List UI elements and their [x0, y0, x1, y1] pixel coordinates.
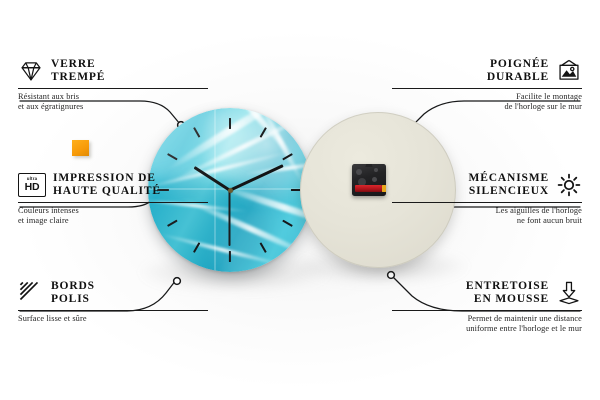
feature-divider	[18, 88, 208, 89]
ultra-hd-badge-large-text: HD	[25, 182, 40, 193]
feature-description: Facilite le montage de l'horloge sur le …	[392, 92, 582, 112]
aa-battery	[355, 185, 382, 193]
feature-title: MÉCANISME SILENCIEUX	[469, 172, 550, 198]
gear-icon	[556, 172, 582, 198]
picture-hanger-icon	[556, 58, 582, 84]
feature-title: ENTRETOISE EN MOUSSE	[466, 280, 549, 306]
diamond-icon	[18, 58, 44, 84]
foam-spacer-pad	[72, 140, 89, 156]
ultra-hd-badge-icon: ultra HD	[18, 173, 46, 197]
feature-title: VERRE TREMPÉ	[51, 58, 105, 84]
clock-center-cap	[228, 188, 233, 193]
feature-title: POIGNÉE DURABLE	[487, 58, 549, 84]
feature-description: Surface lisse et sûre	[18, 314, 208, 324]
feature-verre-trempe: VERRE TREMPÉ Résistant aux bris et aux é…	[18, 58, 208, 112]
feature-mecanisme-silencieux: MÉCANISME SILENCIEUX Les aiguilles de l'…	[392, 172, 582, 226]
battery-positive-tip	[382, 185, 385, 192]
diagonal-stripes-icon	[18, 280, 44, 306]
feature-description: Résistant aux bris et aux égratignures	[18, 92, 208, 112]
feature-description: Permet de maintenir une distance uniform…	[392, 314, 582, 334]
feature-title: BORDS POLIS	[51, 280, 95, 306]
feature-poignee-durable: POIGNÉE DURABLE Facilite le montage de l…	[392, 58, 582, 112]
quartz-mechanism	[352, 164, 386, 196]
feature-impression-haute-qualite: ultra HD IMPRESSION DE HAUTE QUALITÉ Cou…	[18, 172, 208, 226]
clock-tick	[229, 251, 231, 262]
feature-divider	[392, 88, 582, 89]
connector-endpoint-entretoise	[388, 272, 395, 279]
feature-divider	[392, 310, 582, 311]
feature-entretoise-en-mousse: ENTRETOISE EN MOUSSE Permet de maintenir…	[392, 280, 582, 334]
clock-tick	[229, 118, 231, 129]
feature-description: Les aiguilles de l'horloge ne font aucun…	[392, 206, 582, 226]
feature-title: IMPRESSION DE HAUTE QUALITÉ	[53, 172, 161, 198]
foam-spacer-arrow-icon	[556, 280, 582, 306]
feature-bords-polis: BORDS POLIS Surface lisse et sûre	[18, 280, 208, 324]
feature-description: Couleurs intenses et image claire	[18, 206, 208, 226]
feature-divider	[18, 310, 208, 311]
feature-divider	[392, 202, 582, 203]
mechanism-hanger-tab	[363, 164, 376, 167]
feature-divider	[18, 202, 208, 203]
product-infographic: VERRE TREMPÉ Résistant aux bris et aux é…	[0, 0, 600, 400]
